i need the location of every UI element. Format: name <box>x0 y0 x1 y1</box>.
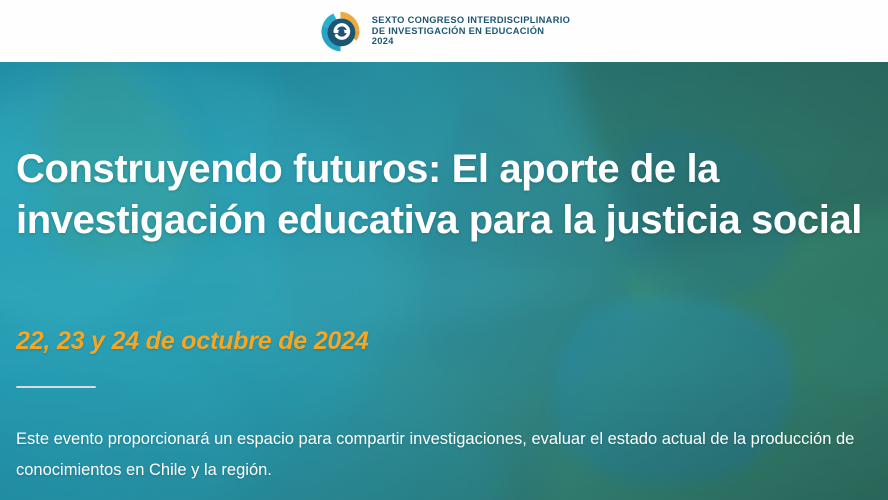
hero-divider <box>16 386 96 388</box>
hero-content: Construyendo futuros: El aporte de la in… <box>0 62 888 500</box>
brand-year: 2024 <box>372 36 570 47</box>
brand-text: SEXTO CONGRESO INTERDISCIPLINARIO DE INV… <box>372 15 570 48</box>
congress-landing-page: SEXTO CONGRESO INTERDISCIPLINARIO DE INV… <box>0 0 888 500</box>
brand-lockup[interactable]: SEXTO CONGRESO INTERDISCIPLINARIO DE INV… <box>318 9 570 54</box>
event-description: Este evento proporcionará un espacio par… <box>16 424 872 486</box>
page-title: Construyendo futuros: El aporte de la in… <box>16 144 876 246</box>
congress-e-logo-icon <box>318 9 363 54</box>
hero-banner: Construyendo futuros: El aporte de la in… <box>0 62 888 500</box>
brand-line-1: SEXTO CONGRESO INTERDISCIPLINARIO <box>372 15 570 26</box>
site-header: SEXTO CONGRESO INTERDISCIPLINARIO DE INV… <box>0 0 888 62</box>
brand-line-2: DE INVESTIGACIÓN EN EDUCACIÓN <box>372 26 570 37</box>
event-dates: 22, 23 y 24 de octubre de 2024 <box>16 327 369 356</box>
